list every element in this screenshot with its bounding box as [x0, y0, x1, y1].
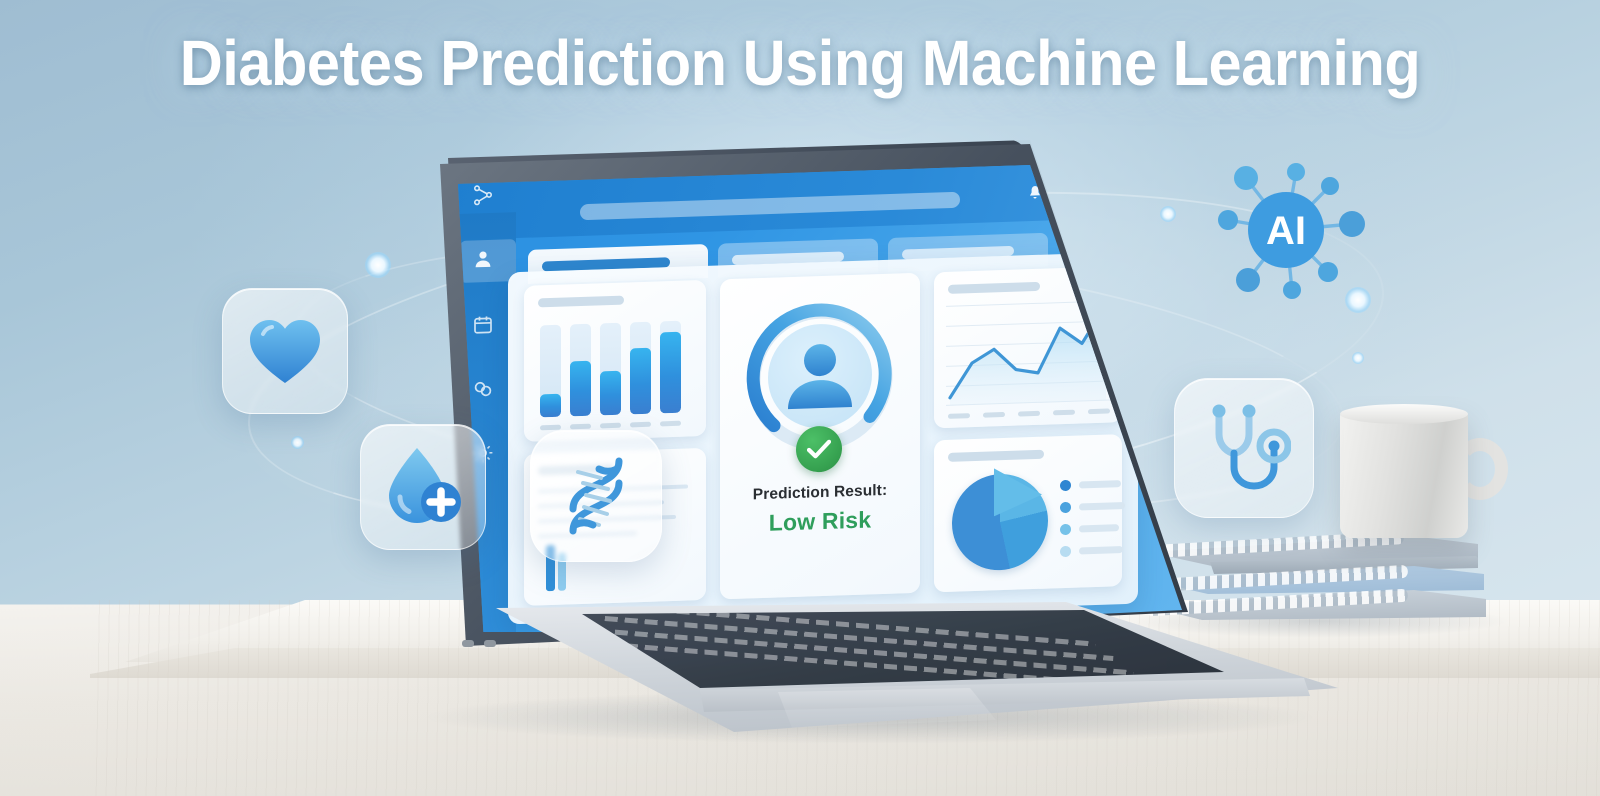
dna-helix-icon — [553, 453, 639, 539]
glow-dot — [1352, 352, 1364, 364]
laptop-screen: Prediction Result: Low Risk — [432, 154, 1184, 632]
bar — [540, 325, 561, 418]
dna-icon-tile — [530, 430, 662, 562]
prediction-result-card: Prediction Result: Low Risk — [720, 273, 920, 600]
check-circle-icon — [796, 425, 842, 473]
bar-chart — [540, 320, 692, 417]
bar — [570, 324, 591, 417]
sidebar-item-patient[interactable] — [472, 248, 498, 275]
sidebar-item-calendar[interactable] — [472, 314, 498, 341]
heart-icon — [248, 317, 322, 385]
legend-item — [1060, 500, 1125, 513]
svg-text:AI: AI — [1266, 209, 1306, 253]
stethoscope-icon — [1197, 402, 1291, 494]
bar-chart-xticks — [540, 420, 692, 430]
legend-item — [1060, 478, 1125, 491]
prediction-label: Prediction Result: — [720, 481, 920, 506]
avatar[interactable] — [1094, 179, 1128, 214]
mug-rim — [1340, 404, 1468, 424]
coffee-mug — [1340, 410, 1468, 538]
bar — [630, 322, 651, 415]
pie-legend — [1060, 478, 1125, 568]
person-avatar-icon — [768, 322, 872, 429]
blood-drop-plus-icon — [383, 445, 463, 529]
stethoscope-icon-tile — [1174, 378, 1314, 518]
glow-dot — [291, 436, 304, 449]
laptop-ports — [462, 640, 514, 650]
bar — [600, 323, 621, 416]
blood-drop-icon-tile — [360, 424, 486, 550]
sidebar-item-analytics[interactable] — [472, 378, 498, 405]
ai-network-icon: AI — [1196, 158, 1376, 308]
sidebar-item-network[interactable] — [472, 184, 498, 211]
pie-chart-card — [934, 434, 1122, 592]
trend-chart-xticks — [948, 408, 1110, 418]
trackpad[interactable] — [756, 688, 996, 728]
bar — [660, 321, 681, 414]
header-pill — [1058, 190, 1182, 207]
hero-banner: Diabetes Prediction Using Machine Learni… — [0, 0, 1600, 796]
prediction-value: Low Risk — [720, 505, 920, 539]
bar-chart-card — [524, 280, 706, 442]
page-title: Diabetes Prediction Using Machine Learni… — [56, 26, 1544, 100]
legend-item — [1060, 522, 1125, 535]
glow-dot — [365, 252, 391, 278]
legend-item — [1060, 544, 1125, 557]
heart-icon-tile — [222, 288, 348, 414]
